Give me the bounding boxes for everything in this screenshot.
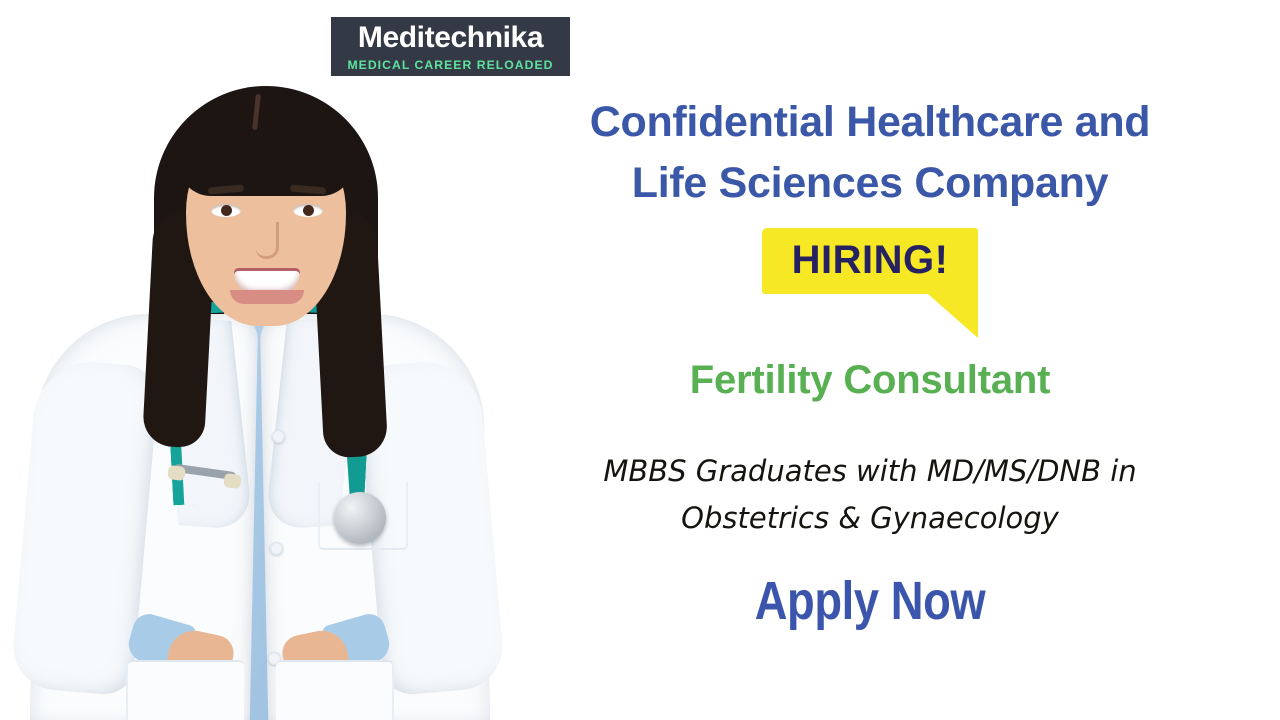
coat-button-middle (270, 542, 283, 555)
nose (256, 222, 279, 259)
job-ad-poster: Meditechnika MEDICAL CAREER RELOADED (0, 0, 1280, 720)
job-title: Fertility Consultant (500, 358, 1240, 403)
headline-line-1: Confidential Healthcare and (500, 92, 1240, 153)
headline-line-2: Life Sciences Company (500, 153, 1240, 214)
coat-pocket-left (126, 660, 244, 720)
pupil-left (221, 205, 232, 216)
pupil-right (303, 205, 314, 216)
doctor-photo (18, 62, 498, 720)
job-qualification: MBBS Graduates with MD/MS/DNB in Obstetr… (500, 448, 1240, 542)
apply-now-cta[interactable]: Apply Now (559, 570, 1181, 632)
company-headline: Confidential Healthcare and Life Science… (500, 92, 1240, 214)
hair-top (178, 92, 354, 196)
hiring-speech-bubble: HIRING! (762, 228, 979, 294)
speech-bubble-tail (928, 294, 978, 338)
hiring-badge-wrap: HIRING! (500, 228, 1240, 294)
stethoscope-eartip-right (223, 473, 242, 489)
lower-lip (230, 290, 304, 304)
qualification-line-2: Obstetrics & Gynaecology (500, 495, 1240, 542)
coat-pocket-right (276, 660, 394, 720)
hiring-label: HIRING! (792, 240, 949, 280)
stethoscope-eartip-left (167, 465, 186, 481)
ad-content-column: Confidential Healthcare and Life Science… (500, 0, 1240, 720)
stethoscope-chestpiece (334, 492, 386, 544)
qualification-line-1: MBBS Graduates with MD/MS/DNB in (500, 448, 1240, 495)
